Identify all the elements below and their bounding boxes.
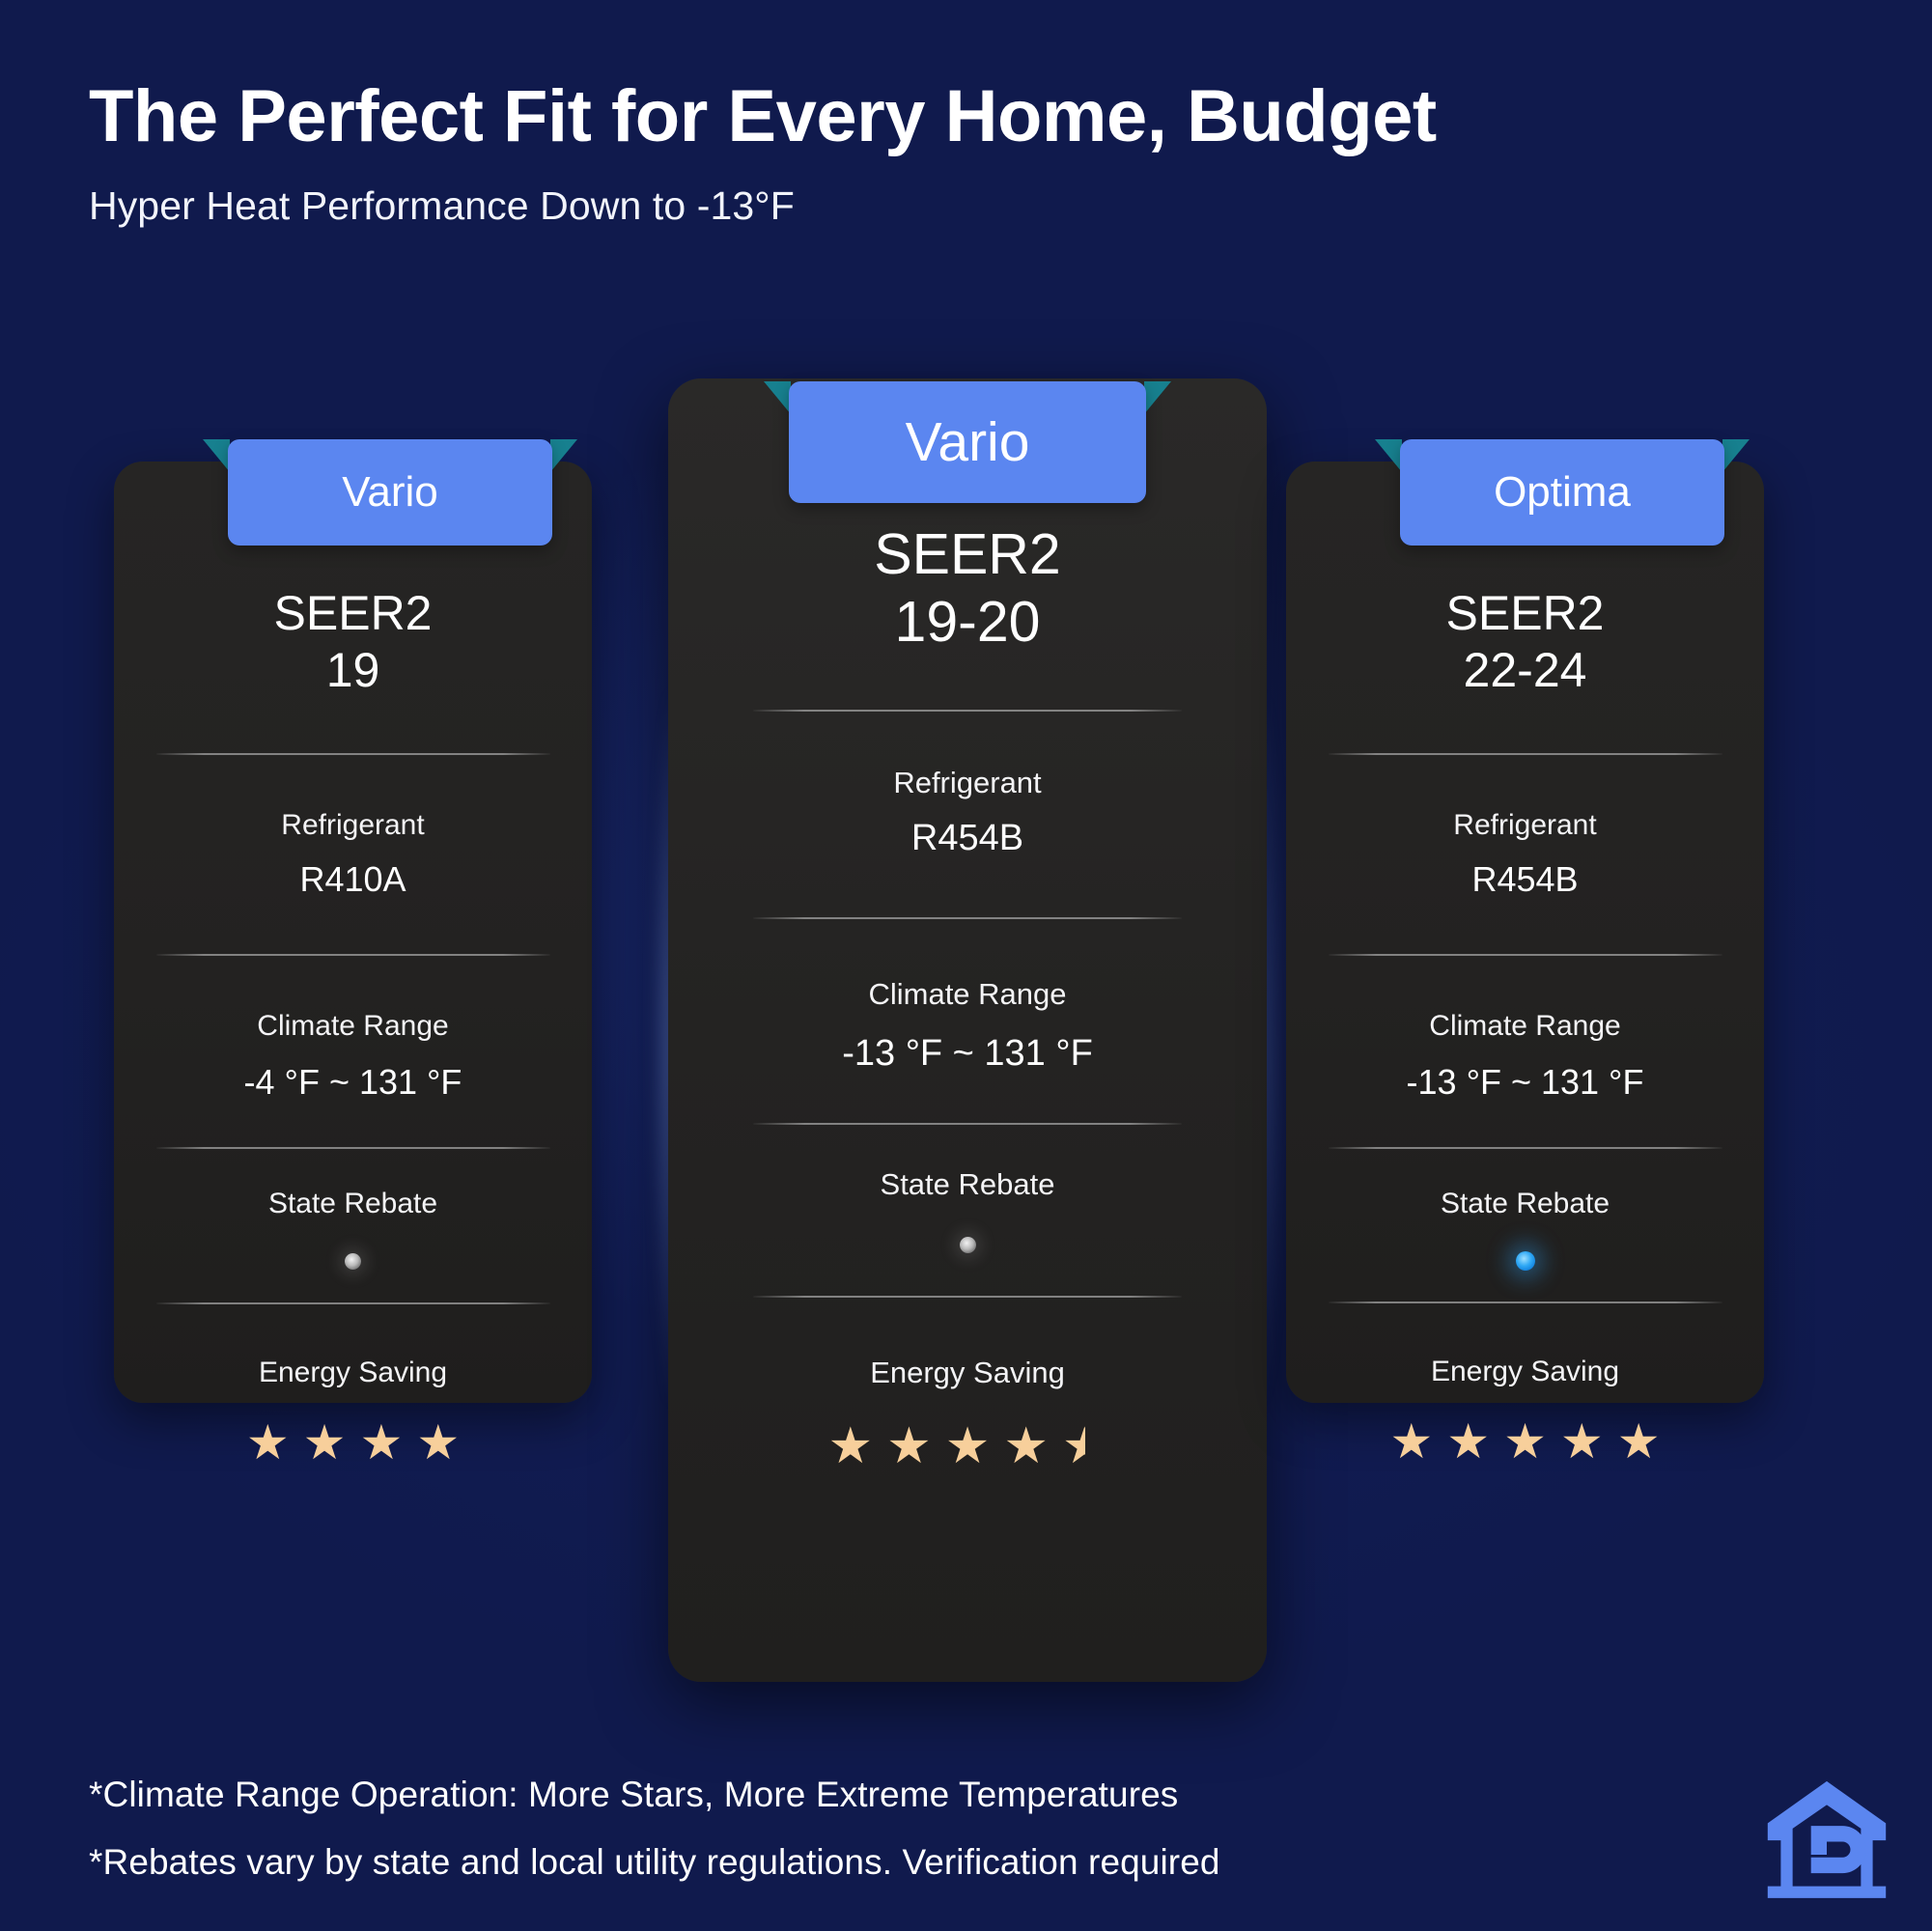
energy-saving-label: Energy Saving bbox=[1431, 1356, 1619, 1388]
energy-saving-label: Energy Saving bbox=[259, 1357, 447, 1389]
row-divider bbox=[156, 954, 550, 956]
energy-saving-stars-icon: ★★★★ bbox=[246, 1418, 460, 1467]
row-divider bbox=[753, 1296, 1182, 1298]
state-rebate-indicator-icon bbox=[1516, 1251, 1535, 1271]
card-tab-vario-left[interactable]: Vario bbox=[228, 439, 552, 546]
house-logo-icon bbox=[1761, 1771, 1892, 1902]
tab-accent-triangle-icon bbox=[1144, 381, 1171, 414]
footer-notes: *Climate Range Operation: More Stars, Mo… bbox=[89, 1775, 1634, 1910]
seer-value: 19 bbox=[326, 642, 380, 699]
seer-label: SEER2 bbox=[874, 521, 1060, 589]
comparison-cards: SEER2 19 Refrigerant R410A Climate Range… bbox=[0, 0, 1932, 1931]
refrigerant-label: Refrigerant bbox=[1453, 809, 1596, 842]
energy-saving-stars-icon: ★★★★ ★★ bbox=[827, 1421, 1106, 1471]
state-rebate-label: State Rebate bbox=[1441, 1188, 1610, 1220]
seer-label: SEER2 bbox=[274, 585, 433, 642]
seer-value: 19-20 bbox=[895, 589, 1041, 657]
row-divider bbox=[1329, 954, 1722, 956]
tab-accent-triangle-icon bbox=[1722, 439, 1750, 472]
state-rebate-indicator-icon bbox=[345, 1253, 361, 1270]
climate-range-label: Climate Range bbox=[257, 1010, 448, 1043]
state-rebate-label: State Rebate bbox=[268, 1188, 437, 1220]
row-divider bbox=[1329, 753, 1722, 755]
footnote-rebates: *Rebates vary by state and local utility… bbox=[89, 1842, 1634, 1883]
row-divider bbox=[1329, 1301, 1722, 1303]
tab-label[interactable]: Vario bbox=[228, 439, 552, 546]
refrigerant-label: Refrigerant bbox=[281, 809, 424, 842]
tab-accent-triangle-icon bbox=[1375, 439, 1402, 472]
refrigerant-value: R410A bbox=[299, 859, 406, 900]
plan-card-optima-right[interactable]: SEER2 22-24 Refrigerant R454B Climate Ra… bbox=[1286, 462, 1764, 1403]
refrigerant-label: Refrigerant bbox=[893, 766, 1041, 800]
climate-range-label: Climate Range bbox=[1429, 1010, 1620, 1043]
energy-saving-stars-icon: ★★★★★ bbox=[1389, 1417, 1660, 1466]
card-tab-optima-right[interactable]: Optima bbox=[1400, 439, 1724, 546]
seer-label: SEER2 bbox=[1446, 585, 1605, 642]
row-divider bbox=[156, 1147, 550, 1149]
row-divider bbox=[753, 1123, 1182, 1125]
row-divider bbox=[753, 710, 1182, 712]
climate-range-label: Climate Range bbox=[868, 977, 1066, 1012]
row-divider bbox=[156, 1302, 550, 1304]
half-star-icon: ★★ bbox=[1062, 1421, 1107, 1471]
tab-accent-triangle-icon bbox=[550, 439, 577, 472]
tab-accent-triangle-icon bbox=[203, 439, 230, 472]
row-divider bbox=[753, 917, 1182, 919]
climate-range-value: -4 °F ~ 131 °F bbox=[244, 1062, 462, 1103]
tab-accent-triangle-icon bbox=[764, 381, 791, 414]
tab-label[interactable]: Optima bbox=[1400, 439, 1724, 546]
climate-range-value: -13 °F ~ 131 °F bbox=[842, 1033, 1093, 1075]
row-divider bbox=[1329, 1147, 1722, 1149]
footnote-climate-range: *Climate Range Operation: More Stars, Mo… bbox=[89, 1775, 1634, 1815]
plan-card-vario-center[interactable]: SEER2 19-20 Refrigerant R454B Climate Ra… bbox=[668, 378, 1267, 1682]
climate-range-value: -13 °F ~ 131 °F bbox=[1407, 1062, 1644, 1103]
state-rebate-label: State Rebate bbox=[881, 1167, 1055, 1202]
state-rebate-indicator-icon bbox=[960, 1237, 976, 1253]
tab-label[interactable]: Vario bbox=[789, 381, 1146, 503]
refrigerant-value: R454B bbox=[911, 818, 1023, 859]
row-divider bbox=[156, 753, 550, 755]
seer-value: 22-24 bbox=[1464, 642, 1587, 699]
energy-saving-label: Energy Saving bbox=[870, 1356, 1065, 1390]
refrigerant-value: R454B bbox=[1471, 859, 1578, 900]
card-tab-vario-center[interactable]: Vario bbox=[789, 381, 1146, 503]
plan-card-vario-left[interactable]: SEER2 19 Refrigerant R410A Climate Range… bbox=[114, 462, 592, 1403]
